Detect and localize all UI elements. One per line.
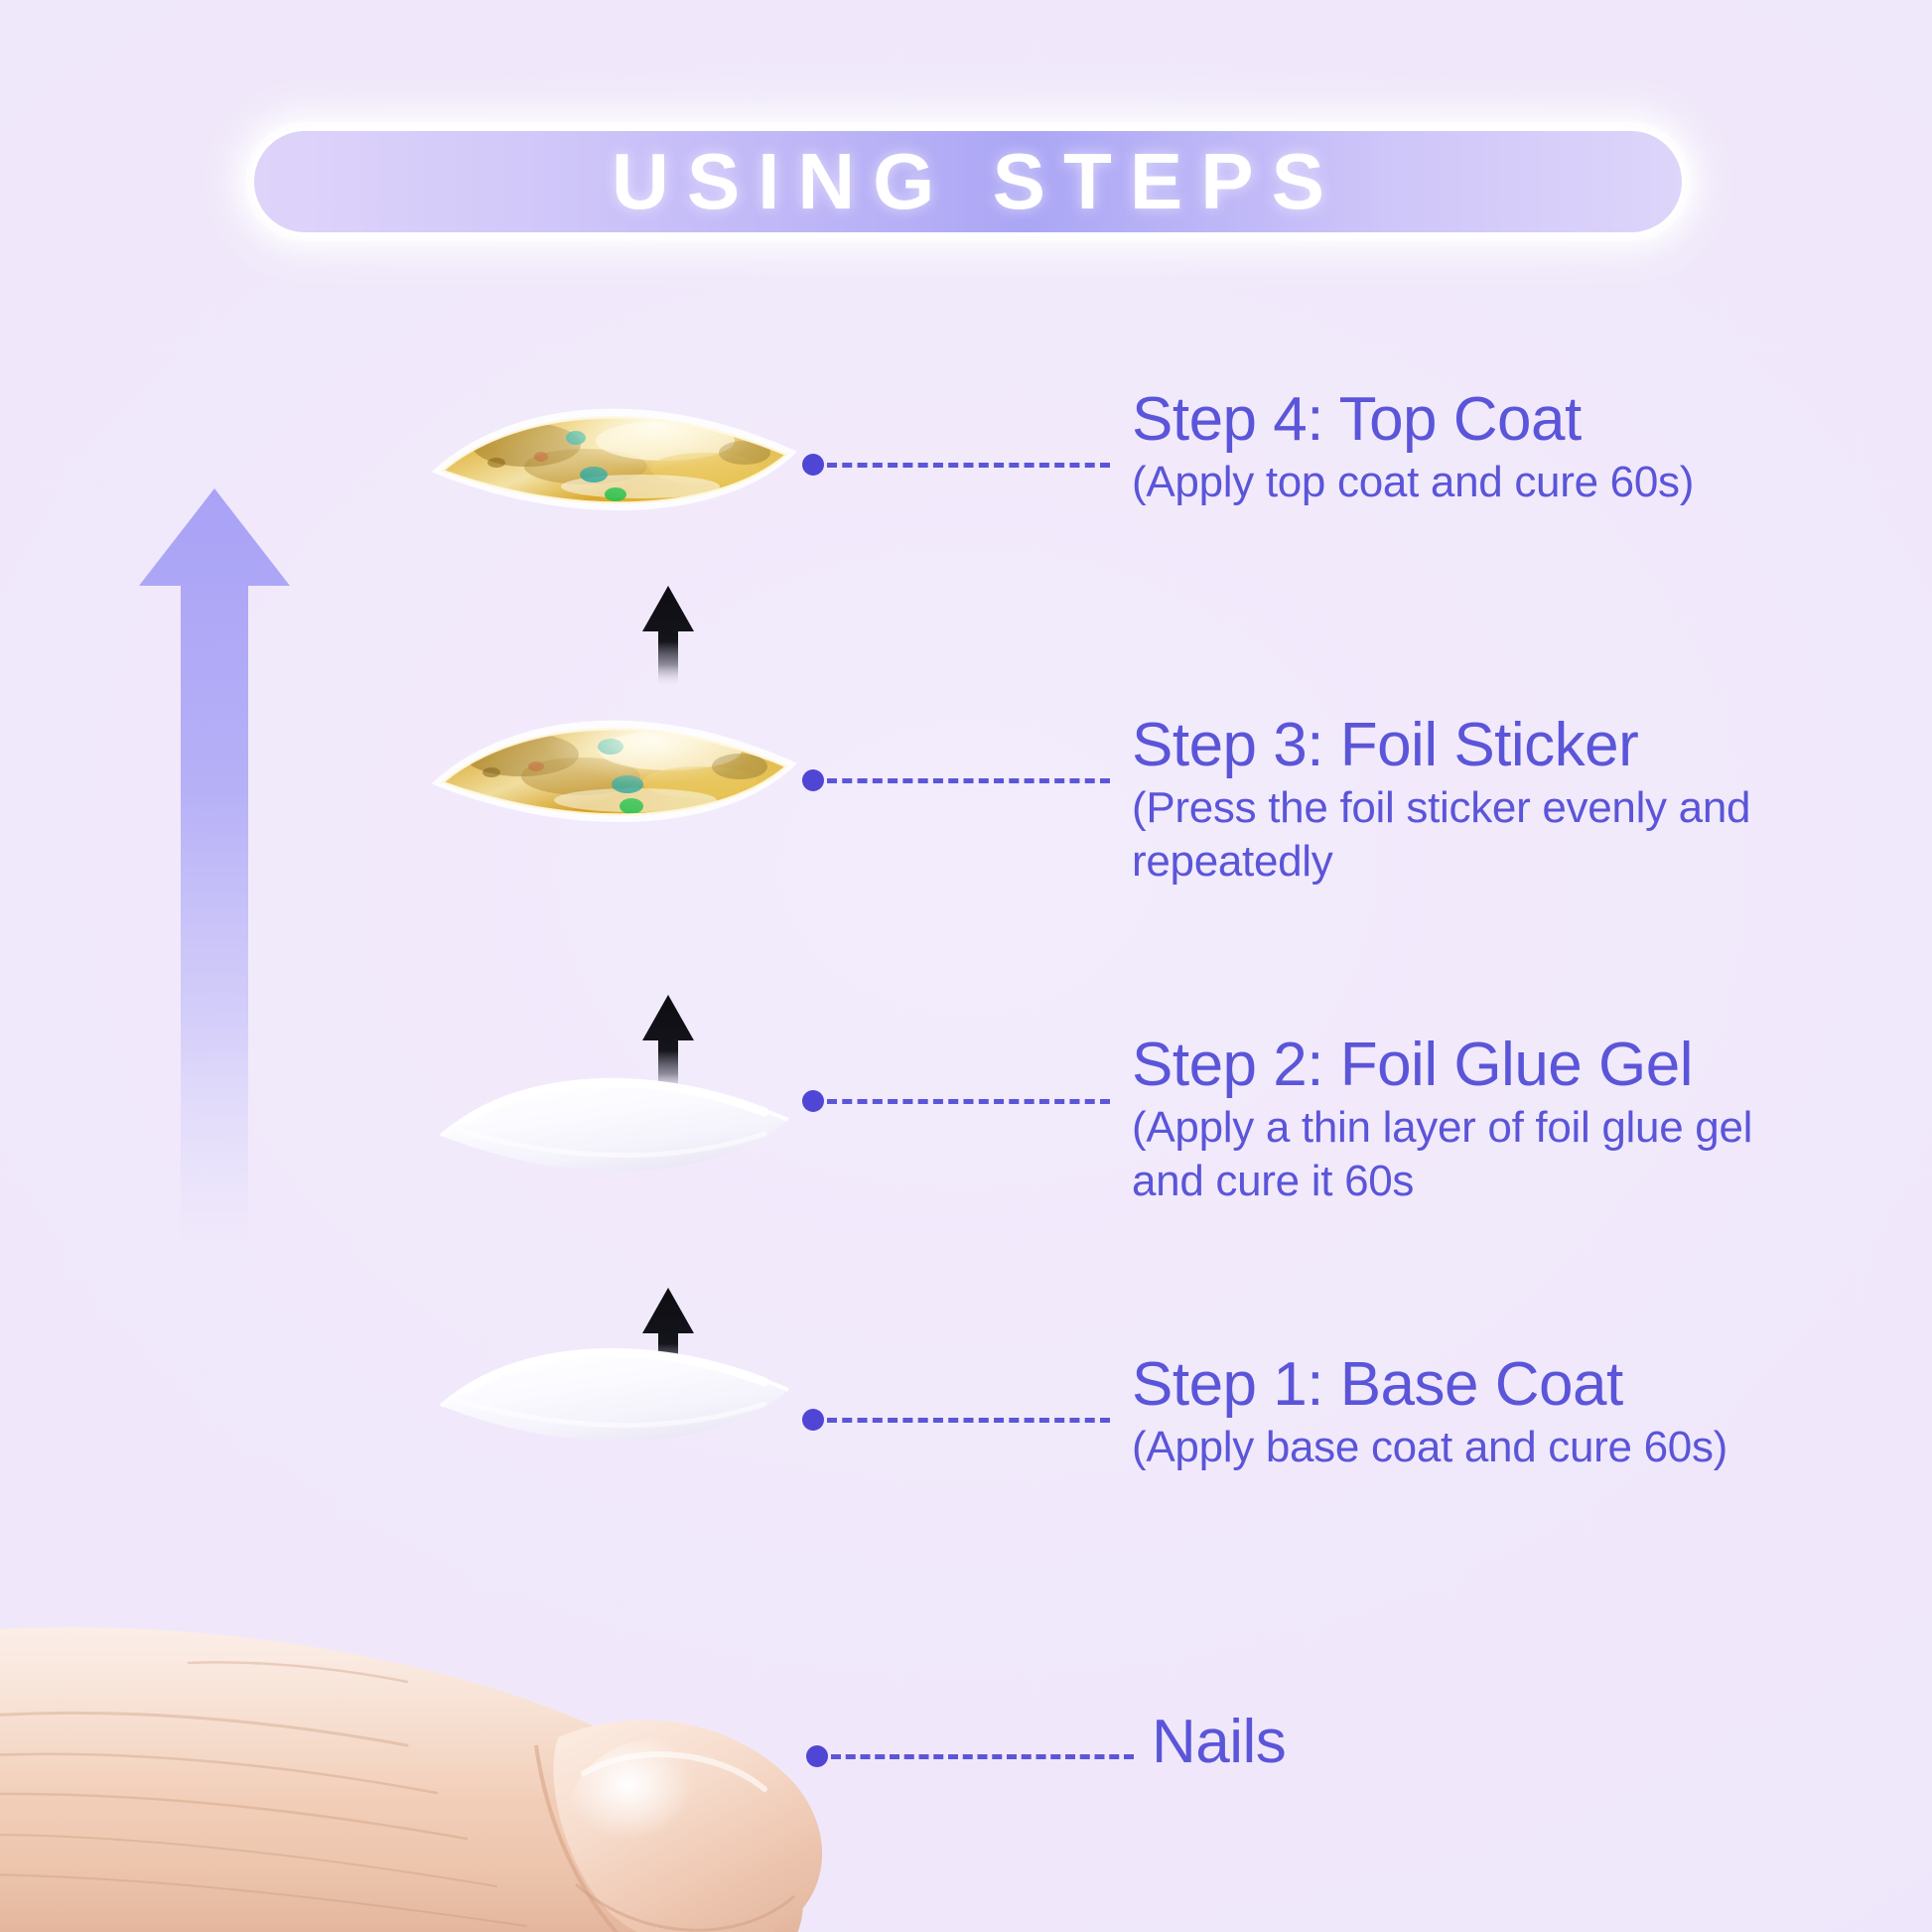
step-description: (Apply a thin layer of foil glue gel and… xyxy=(1132,1101,1827,1207)
leader-line-step-2 xyxy=(802,1090,1110,1112)
flow-arrow-step3-to-step4 xyxy=(640,584,696,687)
infographic-canvas: USING STEPS xyxy=(0,0,1932,1932)
leader-line-step-1 xyxy=(802,1409,1110,1431)
layer-step-3-foil-sticker xyxy=(437,695,794,839)
leader-dot-icon xyxy=(802,769,824,791)
nail-gloss-highlight xyxy=(568,1737,759,1896)
leader-dot-icon xyxy=(802,1090,824,1112)
step-text-block-1: Step 1: Base Coat (Apply base coat and c… xyxy=(1132,1352,1827,1474)
leader-dash xyxy=(827,1099,1110,1104)
leader-dot-icon xyxy=(802,1409,824,1431)
up-arrow-small-icon xyxy=(642,586,694,687)
process-direction-arrow xyxy=(137,483,292,1277)
step-description: (Apply base coat and cure 60s) xyxy=(1132,1421,1827,1474)
step-title: Step 3: Foil Sticker xyxy=(1132,713,1827,779)
nails-label: Nails xyxy=(1152,1710,1286,1776)
leader-line-step-3 xyxy=(802,769,1110,791)
page-title: USING STEPS xyxy=(594,142,1342,221)
layer-step-4-top-coat xyxy=(437,383,794,527)
layer-step-2-foil-glue-gel xyxy=(437,1050,794,1194)
leader-line-nails xyxy=(806,1745,1134,1767)
step-title: Step 4: Top Coat xyxy=(1132,387,1827,454)
fingertip-illustration xyxy=(0,1569,854,1932)
step-title: Step 1: Base Coat xyxy=(1132,1352,1827,1419)
step-text-block-3: Step 3: Foil Sticker (Press the foil sti… xyxy=(1132,713,1827,888)
leader-dash xyxy=(831,1754,1134,1759)
layer-step-1-base-coat xyxy=(437,1320,794,1464)
header-banner: USING STEPS xyxy=(250,127,1686,236)
step-description: (Press the foil sticker evenly and repea… xyxy=(1132,781,1827,888)
step-title: Step 2: Foil Glue Gel xyxy=(1132,1033,1827,1099)
leader-line-step-4 xyxy=(802,454,1110,476)
leader-dash xyxy=(827,1418,1110,1423)
step-description: (Apply top coat and cure 60s) xyxy=(1132,456,1827,509)
up-arrow-icon xyxy=(139,488,290,1277)
leader-dash xyxy=(827,463,1110,468)
leader-dash xyxy=(827,778,1110,783)
leader-dot-icon xyxy=(806,1745,828,1767)
leader-dot-icon xyxy=(802,454,824,476)
step-text-block-4: Step 4: Top Coat (Apply top coat and cur… xyxy=(1132,387,1827,509)
step-text-block-2: Step 2: Foil Glue Gel (Apply a thin laye… xyxy=(1132,1033,1827,1207)
